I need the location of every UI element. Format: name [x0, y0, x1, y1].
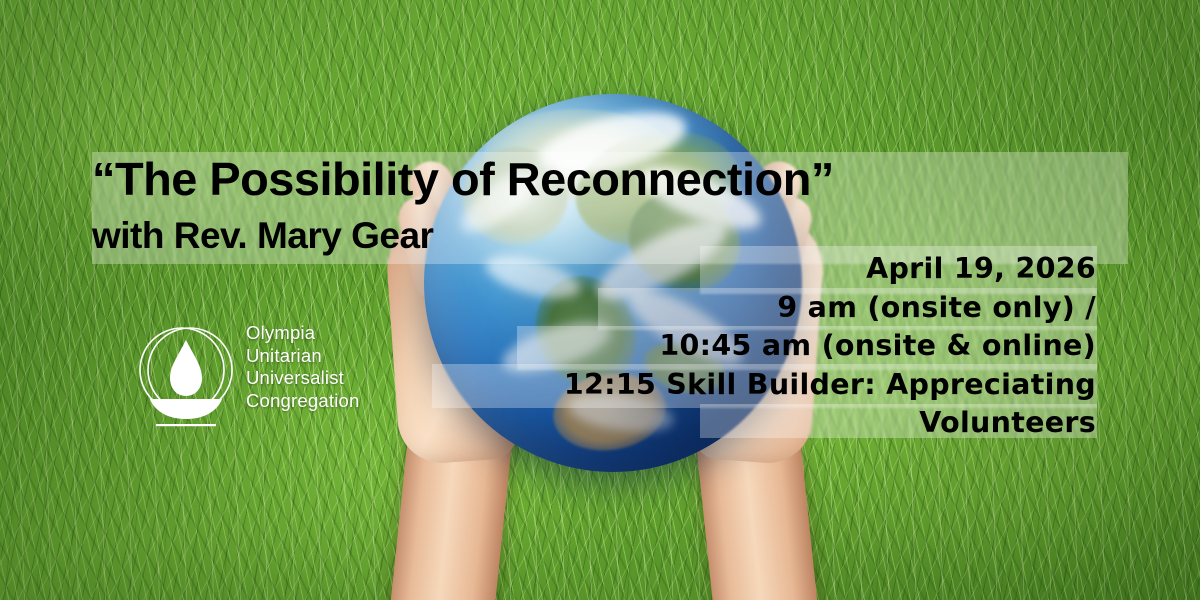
schedule-line-skill-builder-cont: Volunteers — [416, 404, 1096, 443]
flaming-chalice-icon — [136, 318, 236, 430]
headline-block: “The Possibility of Reconnection” with R… — [92, 156, 1132, 254]
schedule-line-skill-builder: 12:15 Skill Builder: Appreciating — [416, 366, 1096, 405]
schedule-line-date: April 19, 2026 — [416, 250, 1096, 289]
organization-name-line-3: Universalist — [246, 367, 359, 390]
organization-name-line-2: Unitarian — [246, 345, 359, 368]
event-poster: “The Possibility of Reconnection” with R… — [0, 0, 1200, 600]
organization-name-line-1: Olympia — [246, 322, 359, 345]
organization-name-line-4: Congregation — [246, 390, 359, 413]
organization-name: Olympia Unitarian Universalist Congregat… — [246, 322, 359, 412]
schedule-line-service-1: 9 am (onsite only) / — [416, 289, 1096, 328]
schedule-block: April 19, 2026 9 am (onsite only) / 10:4… — [416, 250, 1096, 443]
schedule-line-service-2: 10:45 am (onsite & online) — [416, 327, 1096, 366]
page-title: “The Possibility of Reconnection” — [92, 156, 1153, 202]
page-subtitle: with Rev. Mary Gear — [92, 217, 1132, 254]
organization-logo: Olympia Unitarian Universalist Congregat… — [136, 318, 406, 434]
